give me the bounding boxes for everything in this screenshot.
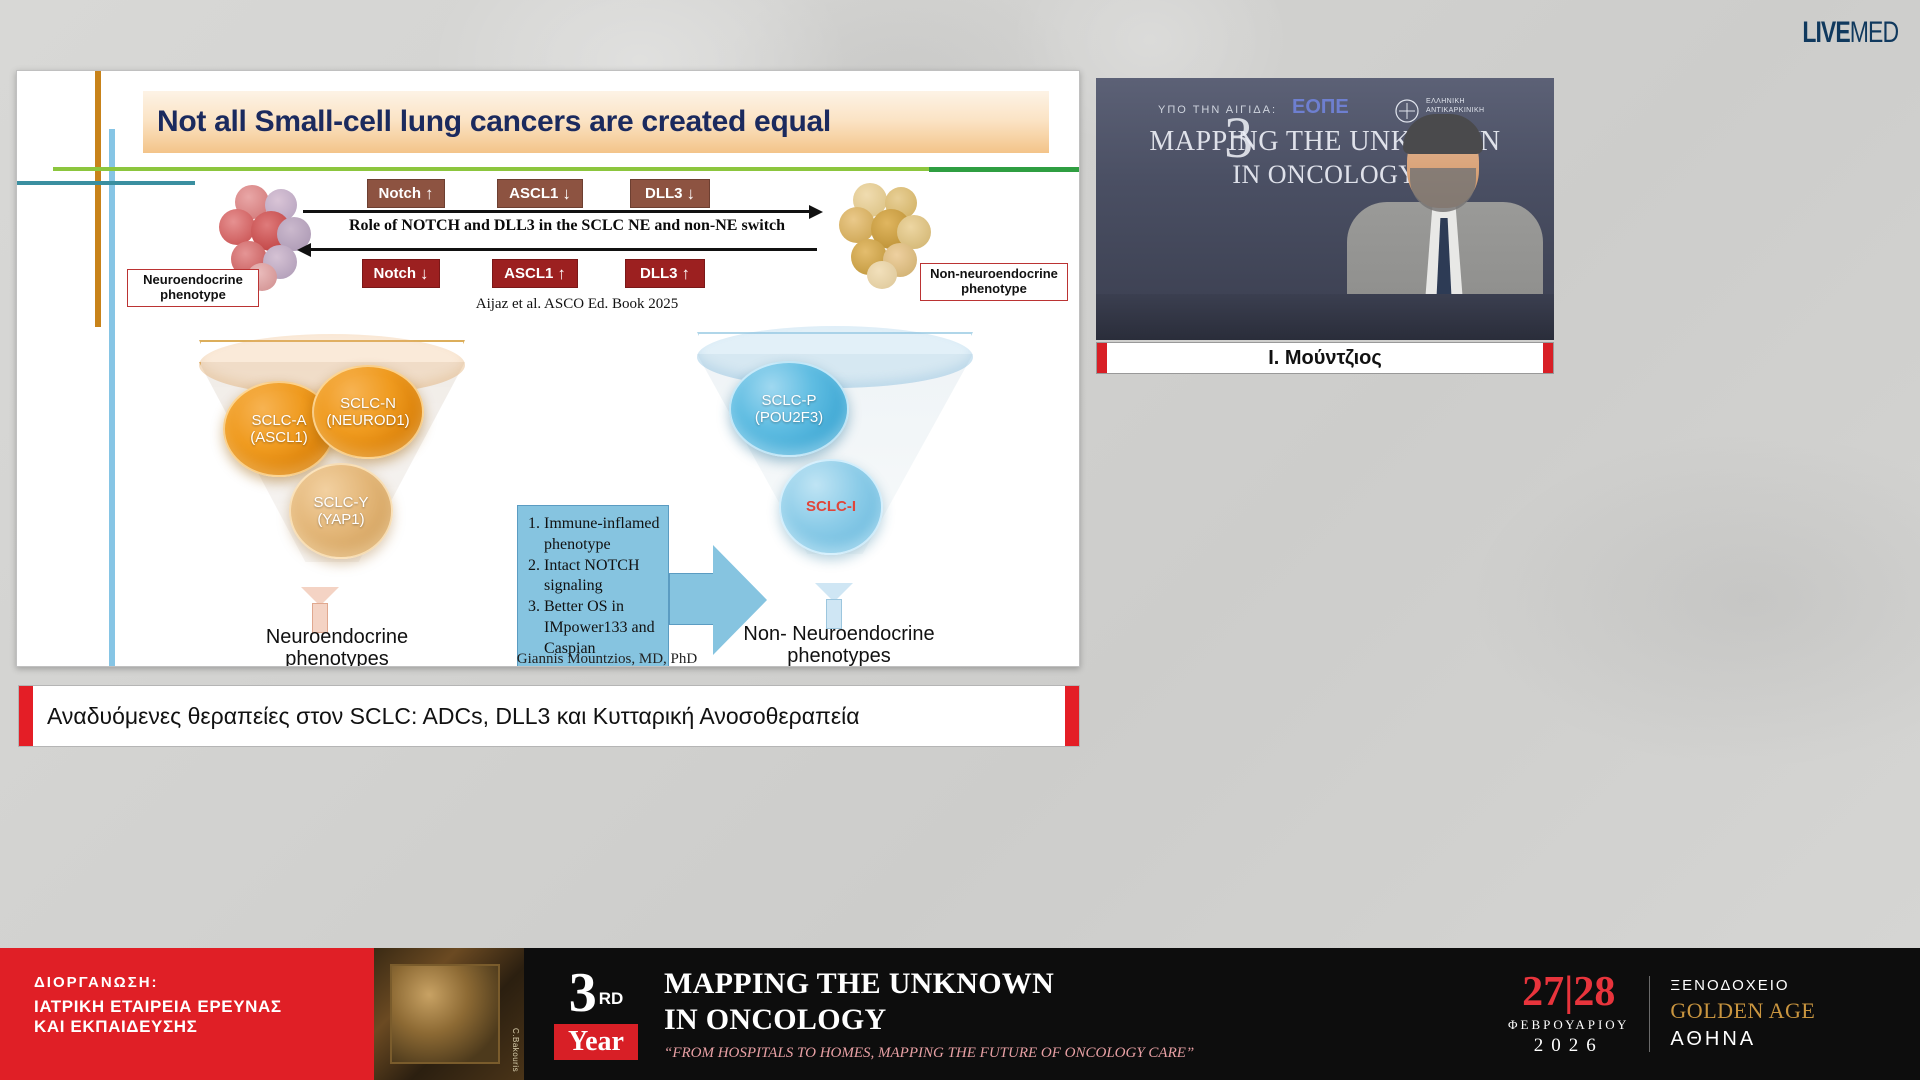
gene-label: Notch xyxy=(374,266,417,281)
artwork-signature: C.Bakouris xyxy=(511,1028,520,1072)
event-title-line2: IN ONCOLOGY xyxy=(664,1003,1194,1037)
transition-arrow-icon xyxy=(669,545,767,655)
venue-name: GOLDEN AGE xyxy=(1670,998,1815,1024)
footer-divider xyxy=(1649,976,1650,1052)
event-days: 27|28 xyxy=(1508,971,1629,1013)
presentation-slide[interactable]: Not all Small-cell lung cancers are crea… xyxy=(16,70,1080,667)
decor-orange-bar xyxy=(95,71,101,327)
livemed-med-text: MED xyxy=(1850,16,1898,49)
switch-description: Role of NOTCH and DLL3 in the SCLC NE an… xyxy=(317,217,817,235)
gene-box-ascl1-up: ASCL1 ↑ xyxy=(492,259,578,288)
event-month: ΦΕΒΡΟΥΑΡΙΟΥ xyxy=(1508,1017,1629,1033)
subtype-gene: (ASCL1) xyxy=(250,429,308,446)
gene-box-ascl1-down: ASCL1 ↓ xyxy=(497,179,583,208)
gene-label: ASCL1 xyxy=(509,186,558,201)
organizer-line-2: ΚΑΙ ΕΚΠΑΙΔΕΥΣΗΣ xyxy=(34,1017,374,1037)
gene-box-dll3-up: DLL3 ↑ xyxy=(625,259,705,288)
speaker-nameplate: Ι. Μούντζιος xyxy=(1096,342,1554,374)
switch-arrow-left xyxy=(297,243,817,257)
speaker-video-panel[interactable]: ΥΠΟ ΤΗΝ ΑΙΓΙΔΑ: ΕΟΠΕ ΕΛΛΗΝΙΚΗ ΑΝΤΙΚΑΡΚΙΝ… xyxy=(1096,78,1554,340)
gene-box-dll3-down: DLL3 ↓ xyxy=(630,179,710,208)
arrow-up-icon: ↑ xyxy=(425,185,434,202)
arrow-down-icon: ↓ xyxy=(420,265,429,282)
event-datetime-venue-block: 27|28 ΦΕΒΡΟΥΑΡΙΟΥ 2026 ΞΕΝΟΔΟΧΕΙΟ GOLDEN… xyxy=(1490,948,1920,1080)
event-year: 2026 xyxy=(1508,1035,1629,1057)
event-venue: ΞΕΝΟΔΟΧΕΙΟ GOLDEN AGE ΑΘΗΝΑ xyxy=(1670,977,1815,1051)
feature-list-box: Immune-inflamed phenotype Intact NOTCH s… xyxy=(517,505,669,667)
phenotype-label-text: Neuroendocrine phenotype xyxy=(143,273,243,303)
subtype-gene: (YAP1) xyxy=(313,511,368,528)
phenotype-label-neuroendocrine: Neuroendocrine phenotype xyxy=(127,269,259,307)
organizer-block: ΔΙΟΡΓΑΝΩΣΗ: ΙΑΤΡΙΚΗ ΕΤΑΙΡΕΙΑ ΕΡΕΥΝΑΣ ΚΑΙ… xyxy=(0,948,374,1080)
organizer-label: ΔΙΟΡΓΑΝΩΣΗ: xyxy=(34,974,374,991)
gene-box-notch-up: Notch ↑ xyxy=(367,179,445,208)
subtype-sphere-sclc-p: SCLC-P (POU2F3) xyxy=(729,361,849,457)
speaker-name: Ι. Μούντζιος xyxy=(1268,347,1382,370)
event-footer: ΔΙΟΡΓΑΝΩΣΗ: ΙΑΤΡΙΚΗ ΕΤΑΙΡΕΙΑ ΕΡΕΥΝΑΣ ΚΑΙ… xyxy=(0,948,1920,1080)
decor-green-line xyxy=(53,167,1080,171)
podium xyxy=(1096,294,1554,340)
arrow-up-icon: ↑ xyxy=(682,265,691,282)
decor-teal-line xyxy=(17,181,195,185)
subtype-name: SCLC-N xyxy=(326,395,409,412)
event-branding-block: 3RD Year MAPPING THE UNKNOWN IN ONCOLOGY… xyxy=(524,948,1490,1080)
arrow-up-icon: ↑ xyxy=(557,265,566,282)
accent-bar-right xyxy=(1065,686,1079,746)
arrow-down-icon: ↓ xyxy=(687,185,696,202)
slide-title-banner: Not all Small-cell lung cancers are crea… xyxy=(143,91,1049,153)
subtype-name: SCLC-P xyxy=(755,392,823,409)
presenter-credit: Giannis Mountzios, MD, PhD xyxy=(457,651,757,667)
livemed-logo: LIVEMED xyxy=(1802,16,1898,50)
subtype-name: SCLC-Y xyxy=(313,494,368,511)
slide-citation: Aijaz et al. ASCO Ed. Book 2025 xyxy=(367,296,787,313)
event-tagline: “FROM HOSPITALS TO HOMES, MAPPING THE FU… xyxy=(664,1045,1194,1062)
event-title-line1: MAPPING THE UNKNOWN xyxy=(664,967,1194,1001)
gene-label: Notch xyxy=(379,186,422,201)
subtype-sphere-sclc-i: SCLC-I xyxy=(779,459,883,555)
subtype-name: SCLC-A xyxy=(250,412,308,429)
gene-box-notch-down: Notch ↓ xyxy=(362,259,440,288)
list-item: Immune-inflamed phenotype xyxy=(544,514,662,556)
gene-label: DLL3 xyxy=(640,266,678,281)
organizer-line-1: ΙΑΤΡΙΚΗ ΕΤΑΙΡΕΙΑ ΕΡΕΥΝΑΣ xyxy=(34,997,374,1017)
footer-artwork: C.Bakouris xyxy=(374,948,524,1080)
gene-label: DLL3 xyxy=(645,186,683,201)
gene-label: ASCL1 xyxy=(504,266,553,281)
edition-number: 3 xyxy=(569,962,597,1024)
phenotype-label-non-neuroendocrine: Non-neuroendocrine phenotype xyxy=(920,263,1068,301)
decor-green-line-right xyxy=(929,167,1080,172)
decor-blue-bar xyxy=(109,129,115,667)
subtype-sphere-sclc-n: SCLC-N (NEUROD1) xyxy=(312,365,424,459)
list-item: Intact NOTCH signaling xyxy=(544,556,662,598)
subtype-name: SCLC-I xyxy=(806,498,856,515)
year-badge: Year xyxy=(554,1024,638,1060)
aegis-label: ΥΠΟ ΤΗΝ ΑΙΓΙΔΑ: xyxy=(1158,104,1277,116)
arrow-down-icon: ↓ xyxy=(562,185,571,202)
subtype-gene: (POU2F3) xyxy=(755,409,823,426)
subtype-sphere-sclc-y: SCLC-Y (YAP1) xyxy=(289,463,393,559)
livemed-live-text: LIVE xyxy=(1802,16,1849,49)
subtype-gene: (NEUROD1) xyxy=(326,412,409,429)
edition-ordinal: RD xyxy=(599,989,624,1008)
venue-label: ΞΕΝΟΔΟΧΕΙΟ xyxy=(1670,977,1815,994)
accent-bar-left xyxy=(19,686,33,746)
event-dates: 27|28 ΦΕΒΡΟΥΑΡΙΟΥ 2026 xyxy=(1508,971,1629,1057)
phenotype-label-text: Non-neuroendocrine phenotype xyxy=(930,267,1058,297)
session-title: Αναδυόμενες θεραπείες στον SCLC: ADCs, D… xyxy=(19,703,860,730)
venue-city: ΑΘΗΝΑ xyxy=(1670,1028,1815,1051)
slide-title: Not all Small-cell lung cancers are crea… xyxy=(157,105,831,139)
session-title-bar: Αναδυόμενες θεραπείες στον SCLC: ADCs, D… xyxy=(18,685,1080,747)
funnel-caption-neuroendocrine: Neuroendocrine phenotypes xyxy=(227,626,447,667)
